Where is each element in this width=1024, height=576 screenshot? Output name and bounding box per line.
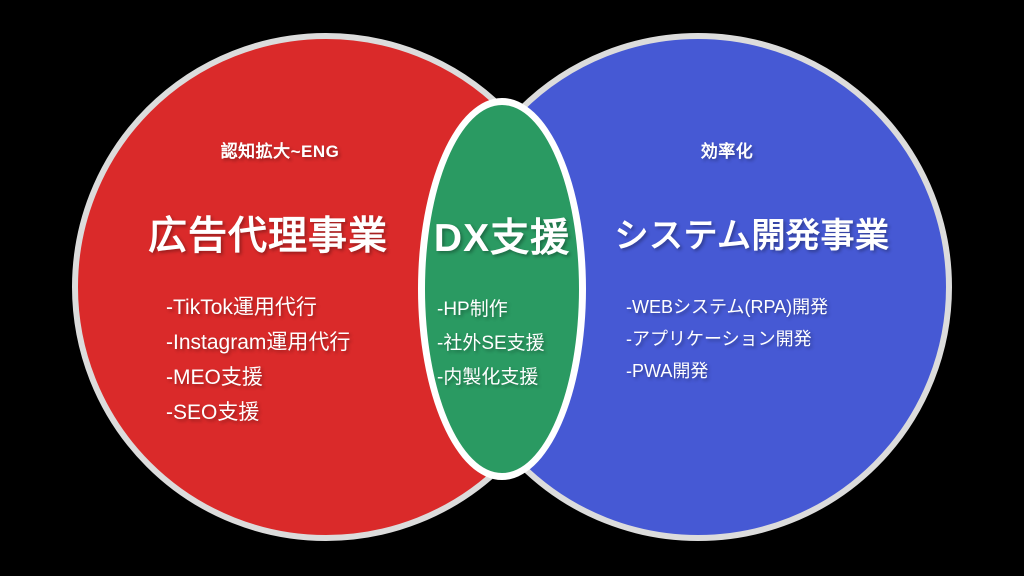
list-item: -Instagram運用代行: [166, 332, 350, 353]
list-item: -HP制作: [437, 300, 545, 319]
list-item: -SEO支援: [166, 402, 350, 423]
left-lobe-service-list: -TikTok運用代行 -Instagram運用代行 -MEO支援 -SEO支援: [166, 297, 350, 437]
list-item: -TikTok運用代行: [166, 297, 350, 318]
left-lobe-headline: 広告代理事業: [118, 216, 418, 259]
list-item: -WEBシステム(RPA)開発: [626, 298, 828, 316]
left-lobe-eyebrow: 認知拡大~ENG: [130, 142, 430, 162]
list-item: -アプリケーション開発: [626, 330, 828, 348]
center-lens-headline: DX支援: [420, 218, 584, 261]
list-item: -PWA開発: [626, 362, 828, 380]
list-item: -内製化支援: [437, 368, 545, 387]
right-lobe-headline: システム開発事業: [592, 218, 912, 255]
venn-lens-center: [418, 98, 586, 480]
center-lens-service-list: -HP制作 -社外SE支援 -内製化支援: [437, 300, 545, 402]
right-lobe-eyebrow: 効率化: [627, 142, 827, 162]
right-lobe-service-list: -WEBシステム(RPA)開発 -アプリケーション開発 -PWA開発: [626, 298, 828, 394]
venn-diagram-canvas: 認知拡大~ENG 広告代理事業 -TikTok運用代行 -Instagram運用…: [0, 0, 1024, 576]
list-item: -MEO支援: [166, 367, 350, 388]
list-item: -社外SE支援: [437, 334, 545, 353]
